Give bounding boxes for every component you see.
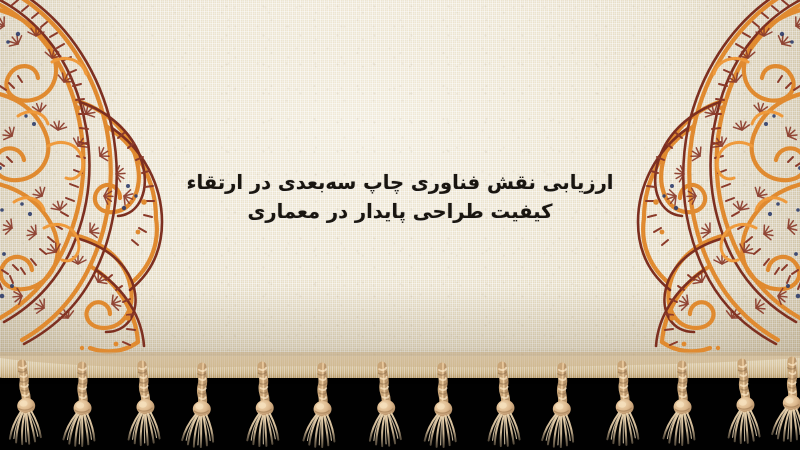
cloth-hem	[0, 356, 800, 378]
title-card-image: ارزیابی نقش فناوری چاپ سه‌بعدی در ارتقاء…	[0, 0, 800, 450]
woven-linen-cloth	[0, 0, 800, 376]
